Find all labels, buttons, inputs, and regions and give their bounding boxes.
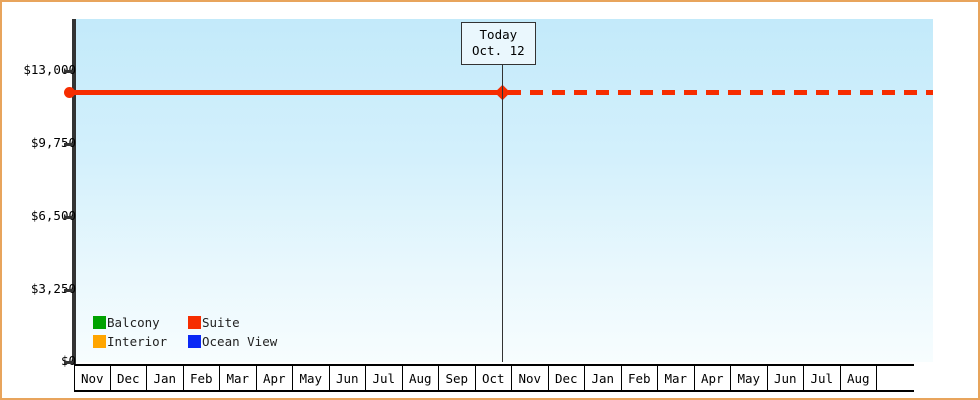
x-axis-cell[interactable]: Jul [804,366,841,390]
x-axis-cell[interactable]: Aug [403,366,440,390]
y-tick-mark [64,143,73,146]
x-axis-cell[interactable]: Apr [695,366,732,390]
x-axis-cell[interactable]: Apr [257,366,294,390]
plot-area [76,19,933,362]
legend-item-suite[interactable]: Suite [188,313,277,332]
x-axis: Nov Dec Jan Feb Mar Apr May Jun Jul Aug … [74,364,914,392]
legend-item-label: Suite [202,315,240,330]
x-axis-cell[interactable]: Jan [147,366,184,390]
legend-swatch-icon [188,316,201,329]
legend-item-interior[interactable]: Interior [93,332,188,351]
legend: Balcony Suite Interior Ocean View [93,313,277,351]
series-start-point-suite [64,87,75,98]
legend-swatch-icon [93,316,106,329]
x-axis-cell[interactable]: Jan [585,366,622,390]
legend-swatch-icon [93,335,106,348]
x-axis-cell[interactable]: Feb [622,366,659,390]
legend-item-balcony[interactable]: Balcony [93,313,188,332]
legend-item-label: Balcony [107,315,160,330]
x-axis-cell[interactable]: Sep [439,366,476,390]
x-axis-cell-empty [877,366,914,390]
series-line-suite-forecast [508,90,933,95]
legend-item-ocean-view[interactable]: Ocean View [188,332,277,351]
x-axis-cell[interactable]: Mar [220,366,257,390]
today-vertical-line [502,62,503,362]
x-axis-cell[interactable]: Jun [330,366,367,390]
x-axis-cell[interactable]: Aug [841,366,878,390]
y-tick-mark [64,216,73,219]
x-axis-cell[interactable]: Jul [366,366,403,390]
x-axis-cell[interactable]: May [731,366,768,390]
x-axis-cell[interactable]: Dec [549,366,586,390]
legend-item-label: Ocean View [202,334,277,349]
x-axis-cell[interactable]: Dec [111,366,148,390]
today-label: Today [472,27,525,43]
legend-item-label: Interior [107,334,167,349]
x-axis-cell[interactable]: Oct [476,366,513,390]
y-tick-mark [64,289,73,292]
x-axis-cell[interactable]: May [293,366,330,390]
x-axis-cell[interactable]: Nov [74,366,111,390]
price-history-chart: $13,000 $9,750 $6,500 $3,250 $0 Today Oc… [0,0,980,400]
y-tick-mark [64,70,73,73]
series-line-suite-actual [70,90,504,95]
x-axis-cell[interactable]: Mar [658,366,695,390]
legend-swatch-icon [188,335,201,348]
today-callout-box: Today Oct. 12 [461,22,536,65]
x-axis-cell[interactable]: Nov [512,366,549,390]
today-date: Oct. 12 [472,43,525,59]
x-axis-cell[interactable]: Jun [768,366,805,390]
y-tick-mark [64,361,73,364]
x-axis-cell[interactable]: Feb [184,366,221,390]
